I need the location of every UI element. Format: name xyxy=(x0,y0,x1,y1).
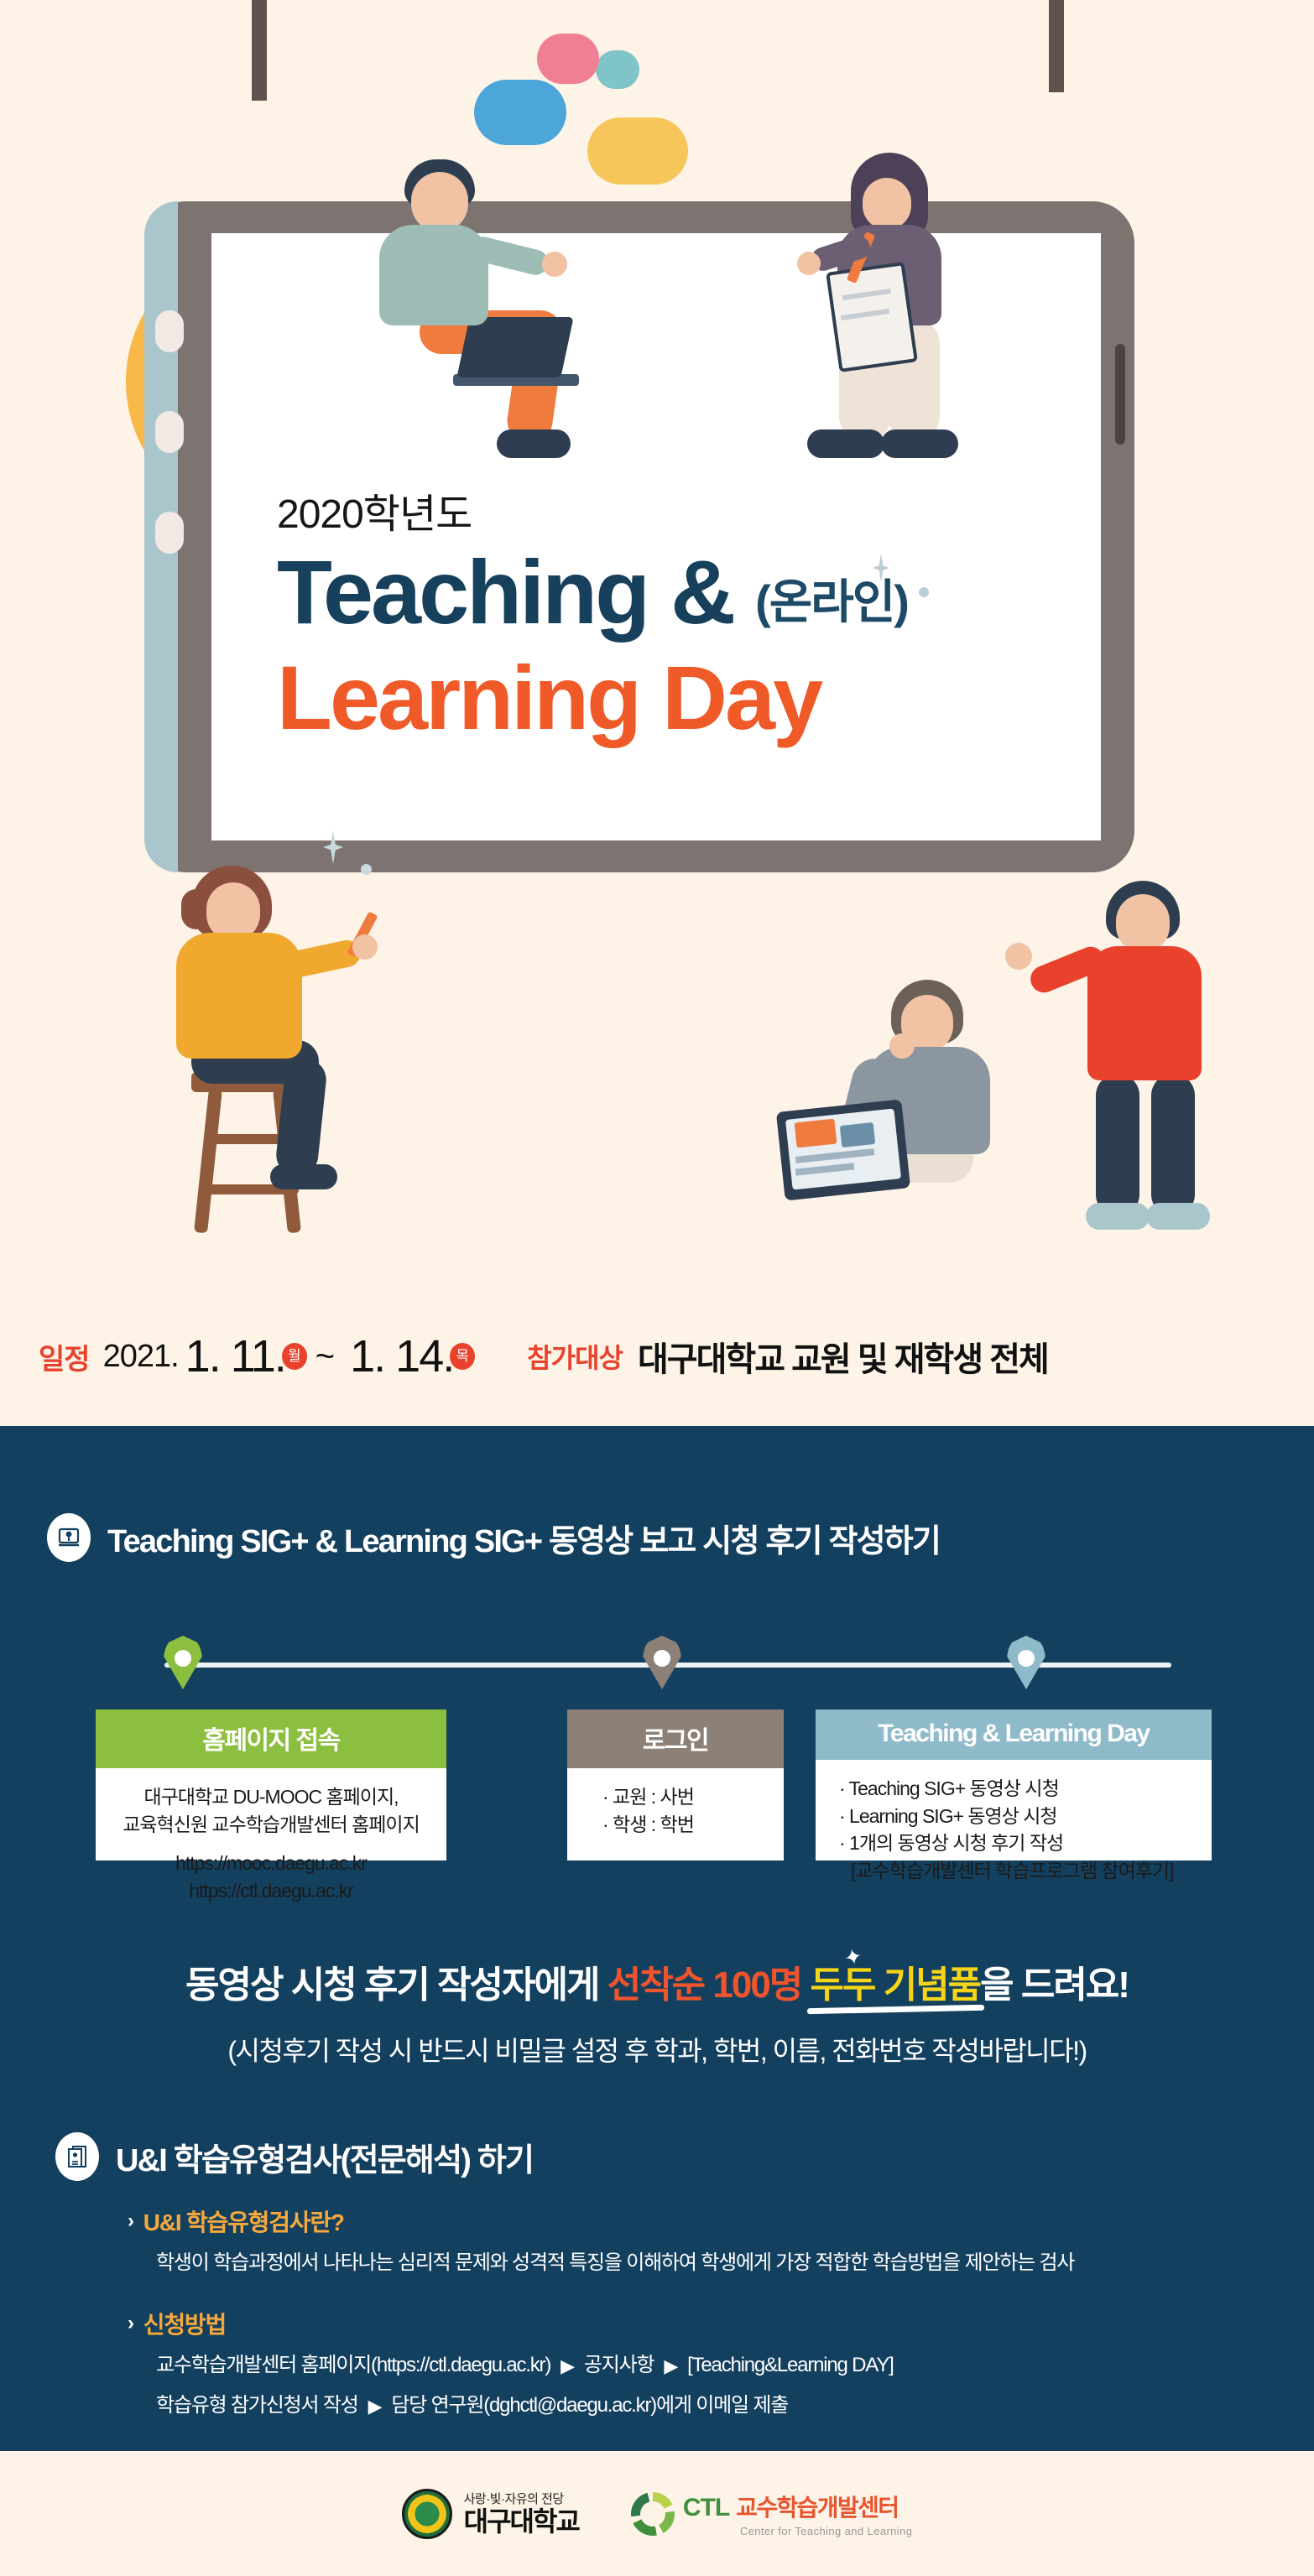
person-d-tablet-screen xyxy=(785,1108,901,1189)
video-review-icon xyxy=(47,1513,91,1562)
assessment-card-icon xyxy=(55,2132,99,2181)
person-e-shoe-2 xyxy=(1146,1203,1210,1230)
step-1-body: 대구대학교 DU-MOOC 홈페이지, 교육혁신원 교수학습개발센터 홈페이지 … xyxy=(96,1768,446,1918)
howto-step-form: 학습유형 참가신청서 작성 xyxy=(156,2394,358,2417)
hero-title-learning-day: Learning Day xyxy=(277,653,1116,743)
howto-step-tldday: [Teaching&Learning DAY] xyxy=(687,2354,893,2376)
speech-blob-blue xyxy=(474,80,566,145)
ctl-logo: CTL 교수학습개발센터 Center for Teaching and Lea… xyxy=(631,2490,913,2537)
uni-definition-heading-row: › U&I 학습유형검사란? xyxy=(128,2204,1235,2238)
uni-block-definition: › U&I 학습유형검사란? 학생이 학습과정에서 나타나는 심리적 문제와 성… xyxy=(128,2204,1235,2278)
howto-step-email[interactable]: 담당 연구원(dghctl@daegu.ac.kr)에게 이메일 제출 xyxy=(391,2394,788,2417)
schedule-year: 2021. xyxy=(103,1339,179,1375)
university-logo-text: 사랑·빛·자유의 전당 대구대학교 xyxy=(464,2490,579,2537)
step-1-line: 대구대학교 DU-MOOC 홈페이지, xyxy=(104,1783,438,1811)
step-3-body: · Teaching SIG+ 동영상 시청 · Learning SIG+ 동… xyxy=(816,1760,1212,1898)
chevron-right-icon: › xyxy=(128,2312,133,2335)
tablet-thumb xyxy=(840,1122,875,1147)
tablet-lens-icon xyxy=(155,512,184,554)
poster-root: 2020학년도 Teaching & (온라인) Learning Day xyxy=(0,0,1314,2576)
step-2-body: · 교원 : 사번 · 학생 : 학번 xyxy=(567,1768,784,1851)
spacer xyxy=(104,1838,438,1850)
gift-suffix: 을 드려요! xyxy=(980,1965,1129,2006)
person-a-laptop-icon xyxy=(456,317,573,377)
person-e-shoe xyxy=(1086,1203,1150,1230)
person-e-hand xyxy=(1005,943,1032,970)
step-1-line: 교육혁신원 교수학습개발센터 홈페이지 xyxy=(104,1811,438,1839)
uni-block-howto: › 신청방법 교수학습개발센터 홈페이지(https://ctl.daegu.a… xyxy=(128,2307,1235,2421)
schedule-start-date: 1. 11. xyxy=(185,1330,285,1382)
person-a-head xyxy=(411,172,468,232)
step-1-header: 홈페이지 접속 xyxy=(96,1710,446,1768)
step-2-line: · 교원 : 사번 xyxy=(602,1783,775,1811)
hero-year-label: 2020학년도 xyxy=(277,495,1116,535)
schedule-start-day-badge: 월 xyxy=(282,1343,307,1370)
gift-note: (시청후기 작성 시 반드시 비밀글 설정 후 학과, 학번, 이름, 전화번호… xyxy=(0,2030,1314,2069)
step-3-line: · Teaching SIG+ 동영상 시청 xyxy=(839,1775,1203,1803)
person-c-body xyxy=(176,933,302,1059)
tablet-lens-icon xyxy=(155,411,184,453)
tablet-lens-icon xyxy=(155,310,184,352)
person-e-leg xyxy=(1096,1074,1139,1216)
howto-step-homepage[interactable]: 교수학습개발센터 홈페이지(https://ctl.daegu.ac.kr) xyxy=(156,2354,550,2376)
ctl-name-row: CTL 교수학습개발센터 xyxy=(683,2490,913,2523)
section-1-header: Teaching SIG+ & Learning SIG+ 동영상 보고 시청 … xyxy=(47,1513,940,1562)
arrow-right-icon: ▶ xyxy=(368,2392,382,2420)
step-1-link[interactable]: https://mooc.daegu.ac.kr xyxy=(104,1850,438,1877)
person-b-hand xyxy=(797,252,821,275)
schedule-end-date: 1. 14. xyxy=(350,1330,453,1382)
schedule-range-tilde: ~ xyxy=(315,1338,335,1376)
person-e-body xyxy=(1087,946,1202,1080)
schedule-label: 일정 xyxy=(39,1336,90,1377)
uni-definition-heading: U&I 학습유형검사란? xyxy=(143,2204,344,2238)
uni-howto-line-2: 학습유형 참가신청서 작성▶담당 연구원(dghctl@daegu.ac.kr)… xyxy=(156,2391,1235,2421)
ctl-name-english: Center for Teaching and Learning xyxy=(740,2525,913,2537)
strap-right xyxy=(1049,0,1064,92)
gift-banner: 동영상 시청 후기 작성자에게 선착순 100명 두두 기념품을 드려요! (시… xyxy=(0,1954,1314,2069)
howto-step-notice: 공지사항 xyxy=(584,2354,654,2376)
section-2-title: U&I 학습유형검사(전문해석) 하기 xyxy=(116,2134,533,2180)
hero-title-teaching: Teaching & xyxy=(277,547,733,637)
stool-leg xyxy=(194,1089,222,1234)
chevron-right-icon: › xyxy=(128,2209,133,2233)
uni-howto-line-1: 교수학습개발센터 홈페이지(https://ctl.daegu.ac.kr)▶공… xyxy=(156,2350,1235,2381)
hero-section: 2020학년도 Teaching & (온라인) Learning Day xyxy=(0,0,1314,1426)
university-logo: 사랑·빛·자유의 전당 대구대학교 xyxy=(402,2489,579,2539)
speech-blob-pink xyxy=(537,34,599,84)
sparkle-dot-icon xyxy=(919,587,929,597)
step-3-header: Teaching & Learning Day xyxy=(816,1710,1212,1760)
speech-blob-teal xyxy=(596,50,639,89)
university-name: 대구대학교 xyxy=(464,2507,579,2537)
step-card-1: 홈페이지 접속 대구대학교 DU-MOOC 홈페이지, 교육혁신원 교수학습개발… xyxy=(96,1710,446,1860)
person-b-face xyxy=(863,178,911,230)
ctl-logo-text: CTL 교수학습개발센터 Center for Teaching and Lea… xyxy=(683,2490,913,2537)
step-2-line: · 학생 : 학번 xyxy=(602,1811,775,1839)
uni-howto-heading: 신청방법 xyxy=(143,2307,226,2340)
person-c-hand xyxy=(352,934,378,960)
step-card-2: 로그인 · 교원 : 사번 · 학생 : 학번 xyxy=(567,1710,784,1860)
ctl-name-korean: 교수학습개발센터 xyxy=(736,2490,898,2523)
step-2-header: 로그인 xyxy=(567,1710,784,1768)
tablet-thumb xyxy=(795,1119,837,1148)
section-2-header: U&I 학습유형검사(전문해석) 하기 xyxy=(55,2132,533,2181)
step-card-3: Teaching & Learning Day · Teaching SIG+ … xyxy=(816,1710,1212,1860)
gift-highlight-orange: 선착순 100명 xyxy=(607,1965,802,2006)
university-seal-icon xyxy=(402,2489,452,2539)
person-a-hand xyxy=(542,252,567,277)
ctl-mark-icon xyxy=(631,2492,675,2536)
person-a-shoe xyxy=(497,429,571,458)
sparkle-dot-icon xyxy=(361,864,372,875)
person-e-leg-2 xyxy=(1151,1074,1195,1216)
section-2-content: › U&I 학습유형검사란? 학생이 학습과정에서 나타나는 심리적 문제와 성… xyxy=(128,2204,1235,2421)
gift-prefix: 동영상 시청 후기 작성자에게 xyxy=(185,1965,607,2006)
person-c-shoe xyxy=(270,1164,337,1189)
step-3-subline: [교수학습개발센터 학습프로그램 참여후기] xyxy=(839,1857,1203,1885)
uni-howto-heading-row: › 신청방법 xyxy=(128,2307,1235,2340)
audience-value: 대구대학교 교원 및 재학생 전체 xyxy=(638,1332,1048,1381)
uni-definition-body: 학생이 학습과정에서 나타나는 심리적 문제와 성격적 특징을 이해하여 학생에… xyxy=(156,2248,1235,2278)
hero-title-row-1: Teaching & (온라인) xyxy=(277,547,1116,637)
step-1-link[interactable]: https://ctl.daegu.ac.kr xyxy=(104,1877,438,1905)
strap-left xyxy=(252,0,267,101)
gift-headline: 동영상 시청 후기 작성자에게 선착순 100명 두두 기념품을 드려요! xyxy=(0,1954,1314,2008)
audience-label: 참가대상 xyxy=(527,1337,623,1376)
schedule-end-day-badge: 목 xyxy=(450,1343,475,1370)
hero-title-online: (온라인) xyxy=(755,567,908,637)
schedule-bar: 일정 2021. 1. 11. 월 ~ 1. 14. 목 참가대상 대구대학교 … xyxy=(0,1319,1314,1394)
arrow-right-icon: ▶ xyxy=(561,2352,574,2380)
arrow-right-icon: ▶ xyxy=(664,2352,677,2380)
footer-logos: 사랑·빛·자유의 전당 대구대학교 CTL 교수학습개발센터 Center fo… xyxy=(0,2451,1314,2576)
hero-title-block: 2020학년도 Teaching & (온라인) Learning Day xyxy=(277,495,1116,743)
gift-highlight-yellow: 두두 기념품 xyxy=(811,1965,981,2006)
person-b-shoe-2 xyxy=(881,429,958,458)
speech-blob-yellow xyxy=(587,117,688,185)
gift-spacer xyxy=(801,1965,810,2006)
step-3-line: · Learning SIG+ 동영상 시청 xyxy=(839,1803,1203,1830)
person-d-hand xyxy=(889,1033,915,1059)
university-slogan: 사랑·빛·자유의 전당 xyxy=(464,2490,579,2507)
tablet-side-button xyxy=(1115,344,1125,445)
person-e-head xyxy=(1116,894,1170,953)
section-1-title: Teaching SIG+ & Learning SIG+ 동영상 보고 시청 … xyxy=(107,1515,940,1561)
ctl-abbreviation: CTL xyxy=(683,2494,729,2522)
person-b-shoe xyxy=(807,429,884,458)
step-3-line: · 1개의 동영상 시청 후기 작성 xyxy=(839,1829,1203,1857)
person-a-body xyxy=(379,225,488,325)
person-b-clipboard-icon xyxy=(826,262,918,372)
